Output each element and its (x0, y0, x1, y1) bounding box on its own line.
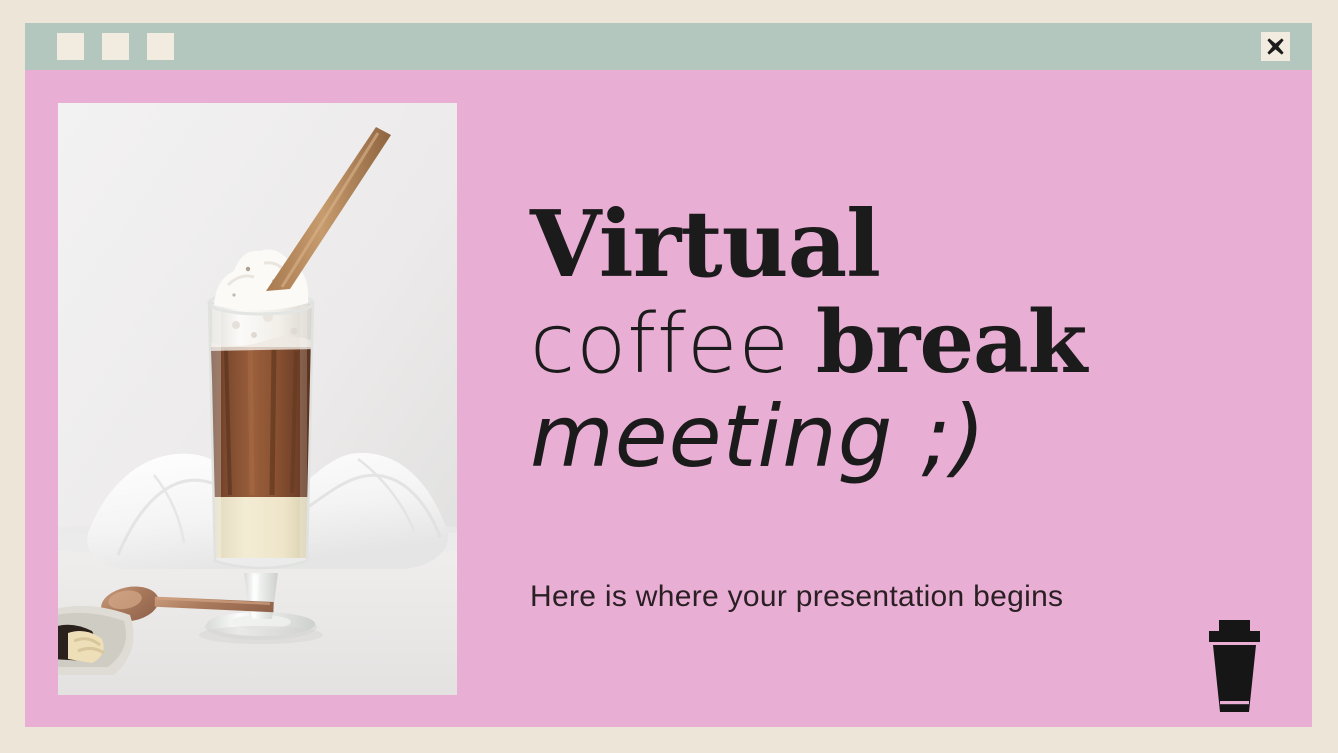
window-control-1[interactable] (57, 33, 84, 60)
window-control-3[interactable] (147, 33, 174, 60)
coffee-photo (58, 103, 457, 695)
headline-block: Virtual coffeebreak meeting ;) (530, 198, 1270, 480)
window-control-2[interactable] (102, 33, 129, 60)
headline-line-meeting: meeting ;) (530, 394, 1270, 480)
slide-window: Virtual coffeebreak meeting ;) Here is w… (25, 23, 1312, 727)
subtitle-text: Here is where your presentation begins (530, 580, 1063, 614)
headline-line-virtual: Virtual (530, 198, 1270, 290)
headline-word-coffee: coffee (530, 297, 790, 392)
headline-line-coffee-break: coffeebreak (530, 300, 1270, 386)
window-title-bar (25, 23, 1312, 70)
close-icon (1266, 37, 1285, 56)
window-controls-group (57, 33, 174, 60)
coffee-cup-icon (1195, 620, 1273, 716)
slide-content-panel: Virtual coffeebreak meeting ;) Here is w… (25, 70, 1312, 727)
headline-word-break: break (816, 292, 1086, 393)
close-button[interactable] (1261, 32, 1290, 61)
